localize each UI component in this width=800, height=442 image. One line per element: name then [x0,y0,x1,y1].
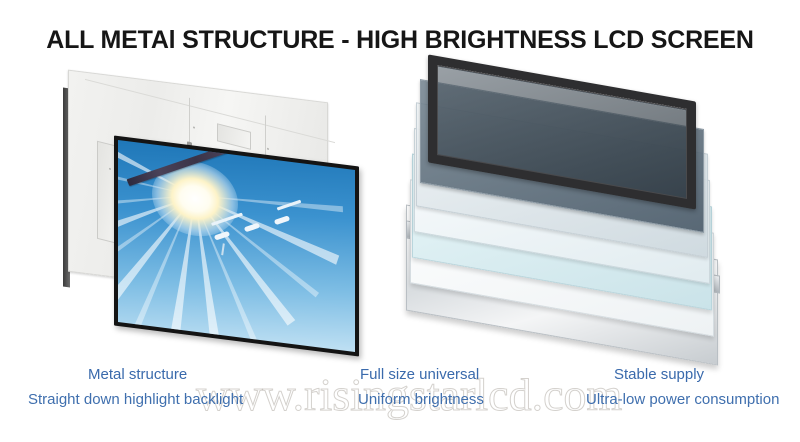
aircraft-fuselage-pod [274,215,291,225]
lcd-screen-display [118,140,355,352]
product-banner: ALL METAl STRUCTURE - HIGH BRIGHTNESS LC… [0,0,800,442]
chassis-screw [267,148,269,151]
metal-structure-lcd-display-photo [56,78,366,353]
feature-1-line-2: Straight down highlight backlight [28,391,328,408]
feature-2-line-2: Uniform brightness [358,391,598,408]
feature-column-1: Metal structure Straight down highlight … [28,366,328,408]
mounting-bracket-top [217,123,251,150]
aircraft-strut [221,243,225,255]
chassis-screw [109,168,111,171]
feature-1-line-1: Metal structure [28,366,328,383]
chassis-screw [193,126,195,129]
feature-3-line-1: Stable supply [586,366,800,383]
feature-column-2: Full size universal Uniform brightness [358,366,598,408]
feature-column-3: Stable supply Ultra-low power consumptio… [586,366,800,408]
feature-2-line-1: Full size universal [358,366,598,383]
exploded-lcd-layer-diagram [412,72,752,357]
feature-3-line-2: Ultra-low power consumption [586,391,800,408]
lcd-screen-bezel [114,136,359,357]
chassis-seam-horizontal [85,79,335,143]
feature-caption-row: Metal structure Straight down highlight … [0,366,800,424]
page-title: ALL METAl STRUCTURE - HIGH BRIGHTNESS LC… [0,26,800,55]
